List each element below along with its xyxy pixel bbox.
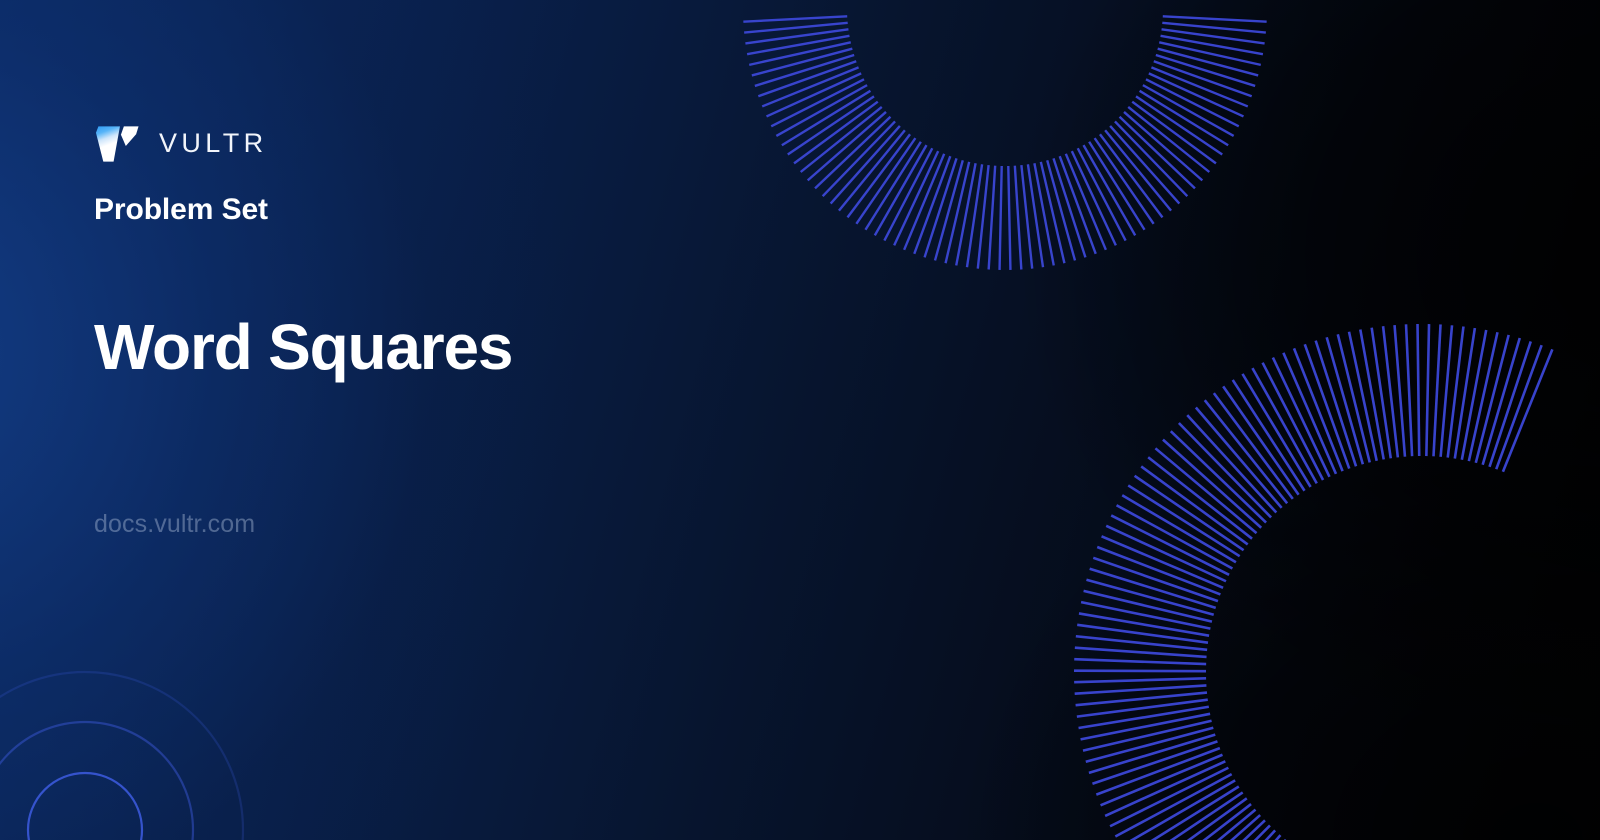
slide-eyebrow: Problem Set (94, 192, 268, 228)
slide-content: VULTR Problem Set Word Squares docs.vult… (94, 0, 854, 840)
brand-lockup[interactable]: VULTR (94, 120, 268, 167)
slide-canvas: VULTR Problem Set Word Squares docs.vult… (0, 0, 1600, 840)
vultr-v-logo-icon (94, 120, 141, 167)
footer-url: docs.vultr.com (94, 509, 255, 539)
vultr-wordmark: VULTR (159, 130, 268, 157)
page-title: Word Squares (94, 311, 512, 385)
